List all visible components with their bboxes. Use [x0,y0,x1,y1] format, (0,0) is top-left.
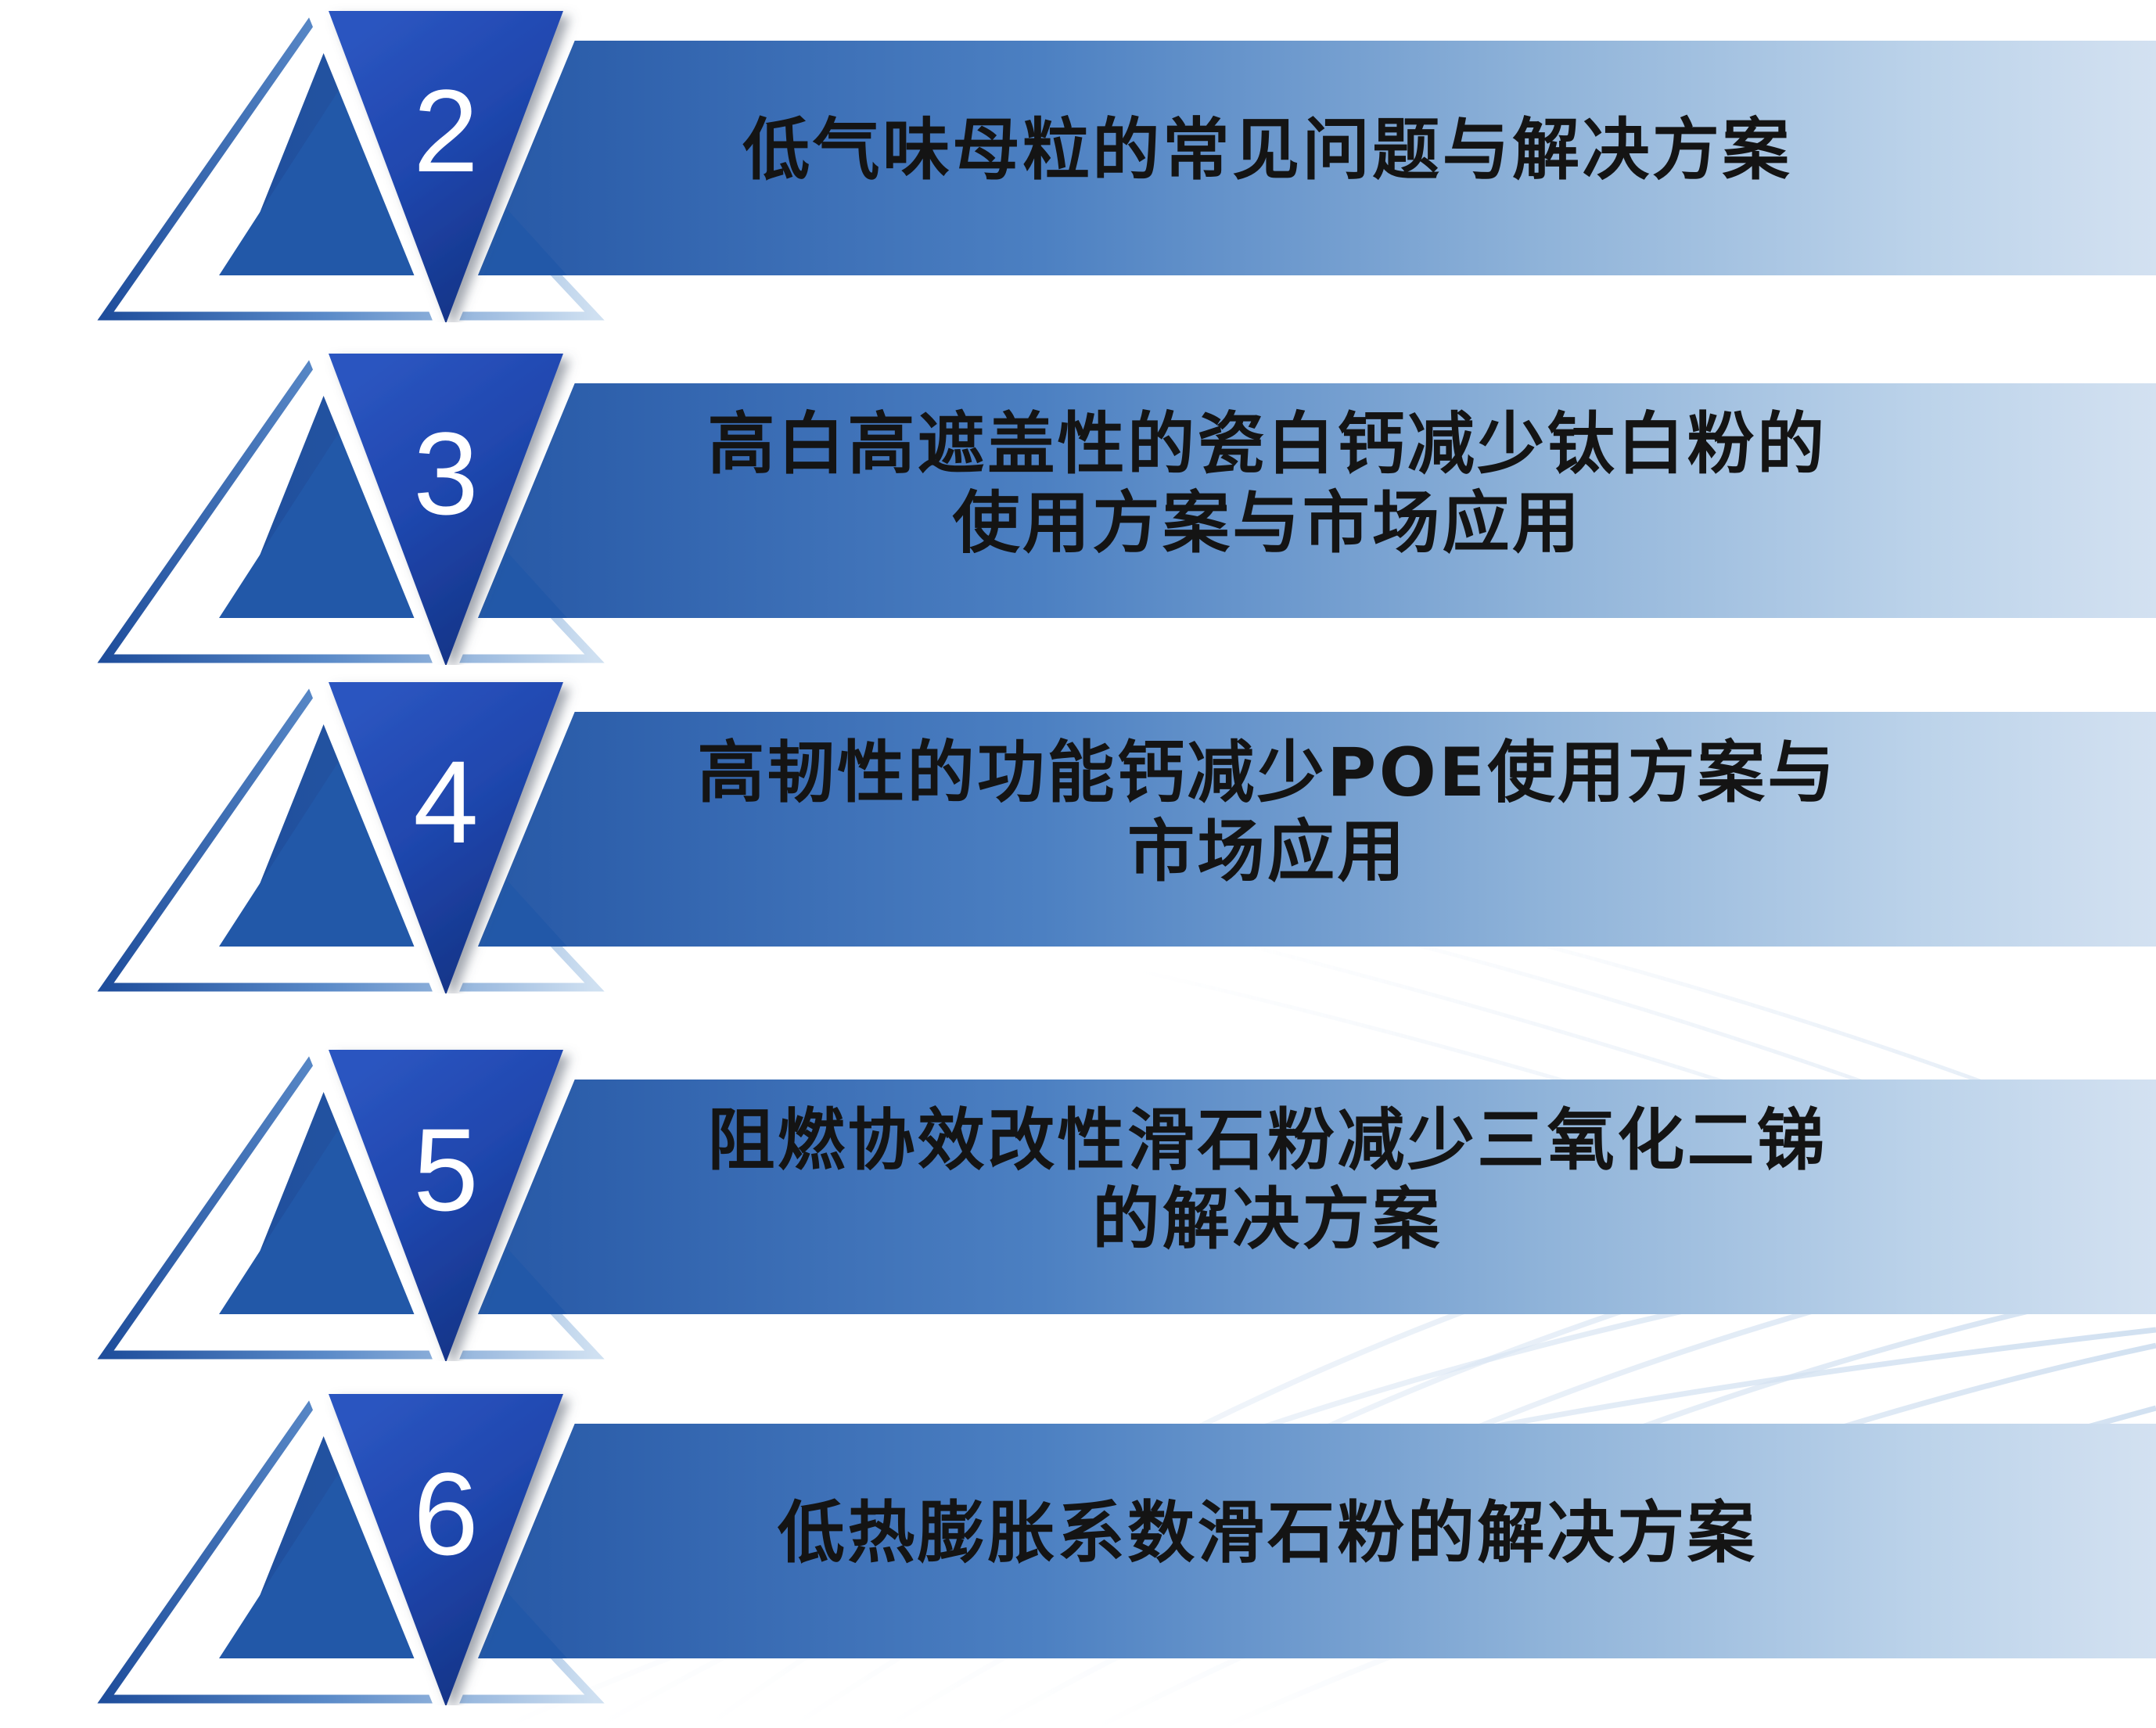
agenda-row[interactable]: 5阻燃协效改性滑石粉减少三氧化二锑 的解决方案 [0,1025,2156,1361]
agenda-list: 2低气味母粒的常见问题与解决方案3高白高遮盖性的瓷白钙减少钛白粉的 使用方案与市… [0,0,2156,1728]
agenda-title: 高韧性的功能钙减少POE使用方案与 市场应用 [595,734,1940,893]
agenda-title: 低气味母粒的常见问题与解决方案 [595,111,1940,190]
agenda-row[interactable]: 3高白高遮盖性的瓷白钙减少钛白粉的 使用方案与市场应用 [0,329,2156,665]
agenda-row[interactable]: 6低热膨胀系数滑石粉的解决方案 [0,1369,2156,1705]
agenda-row[interactable]: 4高韧性的功能钙减少POE使用方案与 市场应用 [0,657,2156,993]
agenda-row[interactable]: 2低气味母粒的常见问题与解决方案 [0,0,2156,322]
agenda-title: 低热膨胀系数滑石粉的解决方案 [595,1494,1940,1573]
agenda-title: 阻燃协效改性滑石粉减少三氧化二锑 的解决方案 [595,1101,1940,1260]
agenda-title: 高白高遮盖性的瓷白钙减少钛白粉的 使用方案与市场应用 [595,405,1940,564]
